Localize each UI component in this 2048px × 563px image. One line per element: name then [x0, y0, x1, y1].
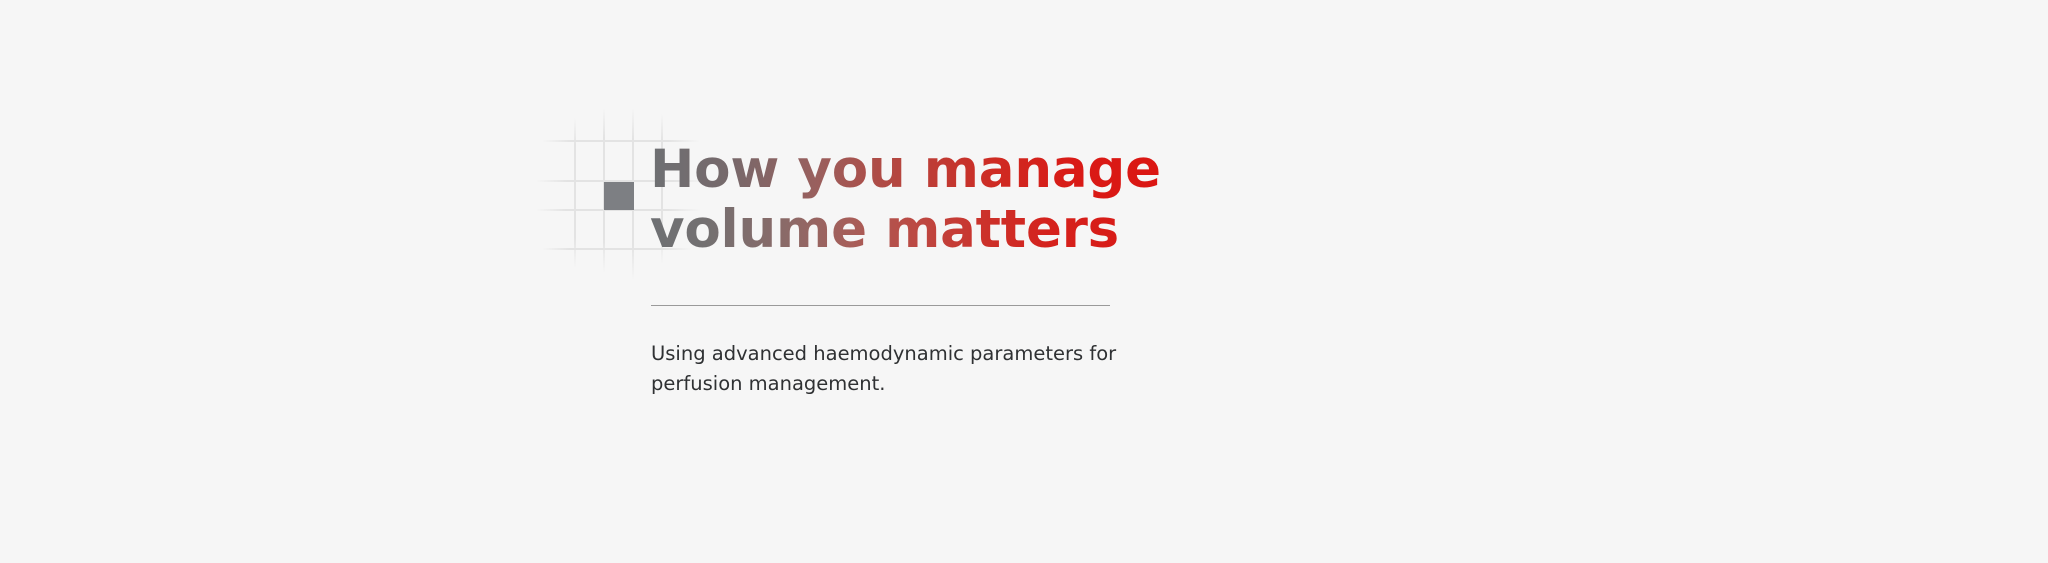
- headline-block: How you manage volume matters: [650, 140, 1210, 260]
- headline-divider: [651, 305, 1110, 306]
- subtitle-line-2: perfusion management.: [651, 369, 1171, 399]
- subtitle-line-1: Using advanced haemodynamic parameters f…: [651, 339, 1171, 369]
- slide-canvas: How you manage volume matters Using adva…: [0, 0, 2048, 563]
- grid-accent-square: [604, 182, 634, 210]
- headline-line-1: How you manage: [650, 140, 1210, 200]
- headline-line-2: volume matters: [650, 200, 1210, 260]
- subtitle-block: Using advanced haemodynamic parameters f…: [651, 339, 1171, 399]
